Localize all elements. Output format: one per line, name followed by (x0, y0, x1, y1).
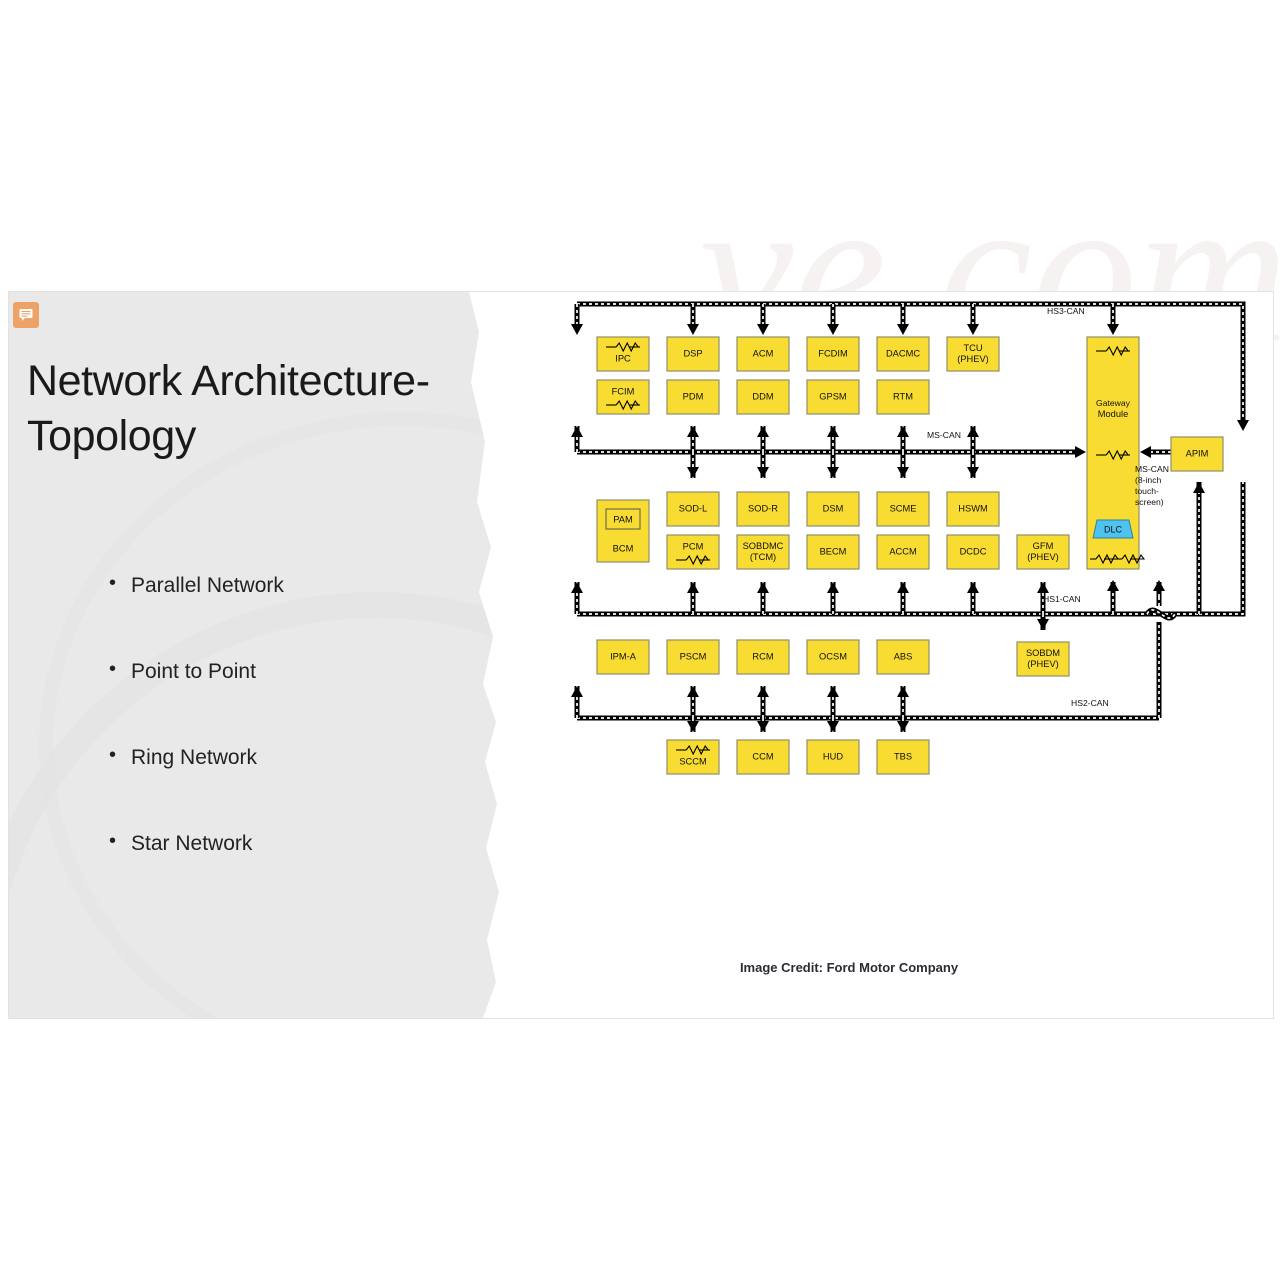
svg-text:APIM: APIM (1186, 448, 1209, 458)
module-ccm[interactable]: CCM (737, 740, 789, 774)
module-gfm[interactable]: GFM(PHEV) (1017, 535, 1069, 569)
svg-text:TBS: TBS (894, 751, 912, 761)
svg-text:ACM: ACM (753, 348, 774, 358)
svg-text:SCME: SCME (890, 503, 917, 513)
module-becm[interactable]: BECM (807, 535, 859, 569)
svg-text:DLC: DLC (1104, 524, 1123, 534)
svg-text:RTM: RTM (893, 391, 913, 401)
module-sccm[interactable]: SCCM (667, 740, 719, 774)
svg-text:SOD-L: SOD-L (679, 503, 707, 513)
module-hud[interactable]: HUD (807, 740, 859, 774)
ms-can-touchscreen-note: touch- (1135, 486, 1159, 496)
module-gpsm[interactable]: GPSM (807, 380, 859, 414)
svg-text:DDM: DDM (752, 391, 773, 401)
module-ddm[interactable]: DDM (737, 380, 789, 414)
module-sod-r[interactable]: SOD-R (737, 492, 789, 526)
svg-text:Gateway: Gateway (1096, 398, 1131, 408)
module-dlc[interactable]: DLC (1093, 520, 1133, 538)
list-item: Star Network (109, 832, 489, 856)
comment-icon[interactable] (13, 302, 39, 328)
module-ipc[interactable]: IPC (597, 337, 649, 371)
svg-text:PCM: PCM (683, 541, 704, 551)
svg-text:SOD-R: SOD-R (748, 503, 778, 513)
module-rcm[interactable]: RCM (737, 640, 789, 674)
module-bcm[interactable]: BCMPAM (597, 500, 649, 562)
svg-text:SOBDM: SOBDM (1026, 648, 1060, 658)
module-hswm[interactable]: HSWM (947, 492, 999, 526)
svg-text:(PHEV): (PHEV) (957, 354, 989, 364)
svg-text:Module: Module (1098, 409, 1129, 419)
topology-bullet-list: Parallel Network Point to Point Ring Net… (109, 574, 489, 918)
module-ocsm[interactable]: OCSM (807, 640, 859, 674)
module-pdm[interactable]: PDM (667, 380, 719, 414)
svg-text:SCCM: SCCM (679, 756, 706, 766)
bus-label-ms-can: MS-CAN (927, 430, 961, 440)
module-fcim[interactable]: FCIM (597, 380, 649, 414)
module-acm[interactable]: ACM (737, 337, 789, 371)
module-accm[interactable]: ACCM (877, 535, 929, 569)
ms-can-touchscreen-note: screen) (1135, 497, 1164, 507)
svg-text:TCU: TCU (963, 343, 982, 353)
svg-text:ABS: ABS (894, 651, 913, 661)
list-item: Ring Network (109, 746, 489, 770)
module-scme[interactable]: SCME (877, 492, 929, 526)
bus-label-hs1-can: HS1-CAN (1043, 594, 1081, 604)
svg-text:FCIM: FCIM (612, 386, 635, 396)
svg-text:FCDIM: FCDIM (818, 348, 847, 358)
svg-text:HSWM: HSWM (958, 503, 987, 513)
bus-label-hs2-can: HS2-CAN (1071, 698, 1109, 708)
svg-text:(PHEV): (PHEV) (1027, 659, 1059, 669)
module-tbs[interactable]: TBS (877, 740, 929, 774)
svg-text:IPC: IPC (615, 353, 631, 363)
module-tcu[interactable]: TCU(PHEV) (947, 337, 999, 371)
image-credit: Image Credit: Ford Motor Company (499, 960, 1199, 975)
page-root: aesweve ve.com Network Architecture-Topo… (0, 0, 1280, 1280)
module-apim[interactable]: APIM (1171, 437, 1223, 471)
module-fcdim[interactable]: FCDIM (807, 337, 859, 371)
svg-text:HUD: HUD (823, 751, 843, 761)
svg-text:DCDC: DCDC (960, 546, 987, 556)
svg-text:DACMC: DACMC (886, 348, 920, 358)
svg-text:PSCM: PSCM (680, 651, 707, 661)
svg-text:(PHEV): (PHEV) (1027, 552, 1059, 562)
module-ipm-a[interactable]: IPM-A (597, 640, 649, 674)
module-rtm[interactable]: RTM (877, 380, 929, 414)
svg-text:OCSM: OCSM (819, 651, 847, 661)
module-dacmc[interactable]: DACMC (877, 337, 929, 371)
list-item: Parallel Network (109, 574, 489, 598)
presentation-slide: Network Architecture-Topology Parallel N… (8, 291, 1274, 1019)
svg-text:RCM: RCM (752, 651, 773, 661)
svg-text:SOBDMC: SOBDMC (743, 541, 784, 551)
svg-text:BCM: BCM (613, 543, 634, 553)
svg-text:DSP: DSP (683, 348, 702, 358)
module-dcdc[interactable]: DCDC (947, 535, 999, 569)
diagram-canvas: IPCDSPACMFCDIMDACMCTCU(PHEV)FCIMPDMDDMGP… (499, 292, 1273, 962)
svg-text:GPSM: GPSM (819, 391, 846, 401)
page-title: Network Architecture-Topology (27, 354, 497, 464)
svg-text:BECM: BECM (820, 546, 847, 556)
can-network-topology-diagram: IPCDSPACMFCDIMDACMCTCU(PHEV)FCIMPDMDDMGP… (499, 292, 1273, 1018)
module-dsm[interactable]: DSM (807, 492, 859, 526)
bus-label-hs3-can: HS3-CAN (1047, 306, 1085, 316)
svg-text:GFM: GFM (1033, 541, 1054, 551)
module-dsp[interactable]: DSP (667, 337, 719, 371)
module-pcm[interactable]: PCM (667, 535, 719, 569)
svg-text:ACCM: ACCM (889, 546, 916, 556)
module-pscm[interactable]: PSCM (667, 640, 719, 674)
svg-text:CCM: CCM (752, 751, 773, 761)
svg-text:IPM-A: IPM-A (610, 651, 637, 661)
module-sod-l[interactable]: SOD-L (667, 492, 719, 526)
ms-can-touchscreen-note: MS-CAN (1135, 464, 1169, 474)
module-sobdm[interactable]: SOBDM(PHEV) (1017, 642, 1069, 676)
module-sobdmc[interactable]: SOBDMC(TCM) (737, 535, 789, 569)
svg-text:PAM: PAM (613, 514, 632, 524)
svg-text:PDM: PDM (683, 391, 704, 401)
svg-text:DSM: DSM (823, 503, 844, 513)
module-abs[interactable]: ABS (877, 640, 929, 674)
list-item: Point to Point (109, 660, 489, 684)
svg-text:(TCM): (TCM) (750, 552, 776, 562)
ms-can-touchscreen-note: (8-inch (1135, 475, 1161, 485)
